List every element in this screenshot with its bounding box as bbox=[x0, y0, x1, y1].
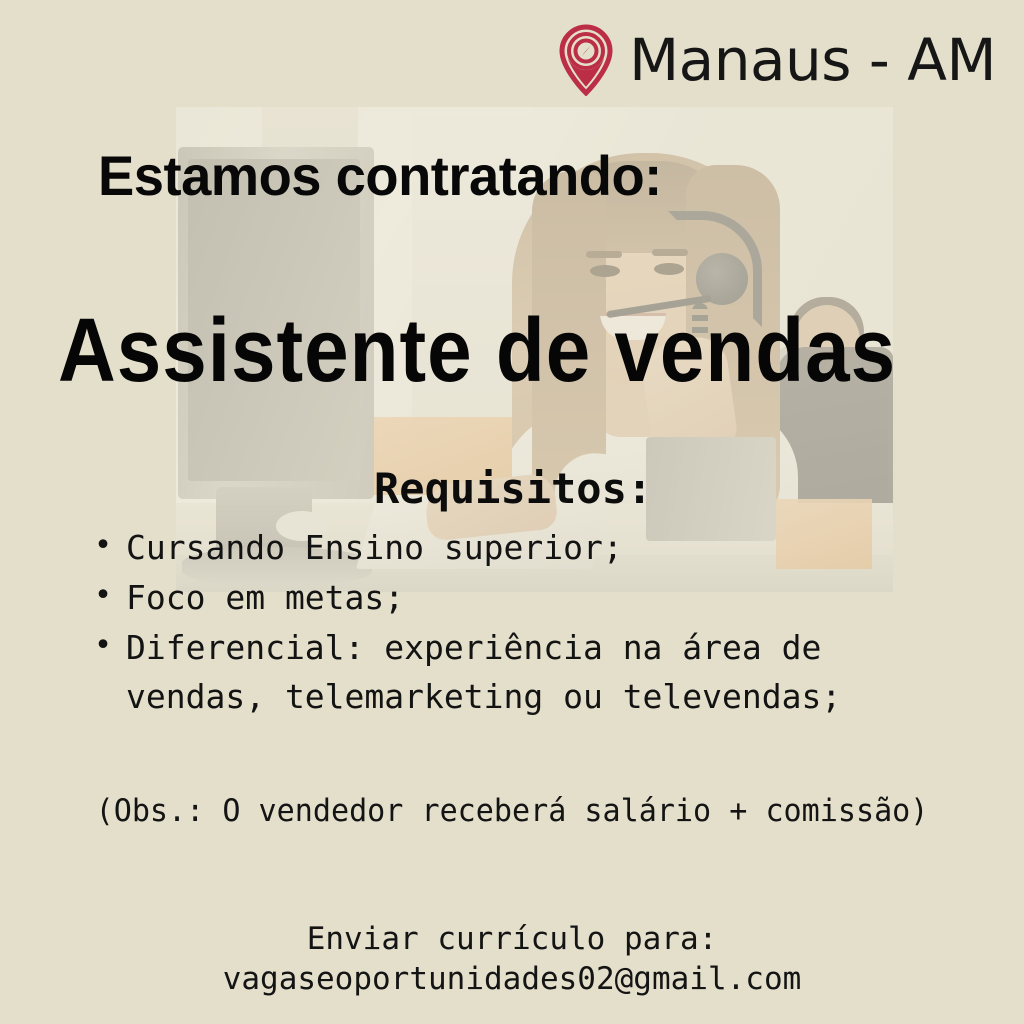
contact-email[interactable]: vagaseoportunidades02@gmail.com bbox=[0, 960, 1024, 1000]
location-label: Manaus - AM bbox=[629, 31, 996, 89]
contact-call-to-action: Enviar currículo para: bbox=[0, 920, 1024, 960]
job-ad-poster: Manaus - AM Estamos contratando: Assiste… bbox=[0, 0, 1024, 1024]
observation-note: (Obs.: O vendedor receberá salário + com… bbox=[15, 796, 1008, 827]
photo-woman-brow-left bbox=[586, 251, 622, 258]
contact-footer: Enviar currículo para: vagaseoportunidad… bbox=[0, 920, 1024, 999]
location-pin-compass-icon bbox=[557, 24, 615, 96]
list-item: Foco em metas; bbox=[92, 574, 972, 622]
page-title: Assistente de vendas bbox=[58, 306, 896, 396]
headline-estamos-contratando: Estamos contratando: bbox=[98, 148, 662, 204]
requirements-list: Cursando Ensino superior; Foco em metas;… bbox=[92, 524, 972, 723]
list-item: Cursando Ensino superior; bbox=[92, 524, 972, 572]
location-badge: Manaus - AM bbox=[557, 24, 996, 96]
list-item: Diferencial: experiência na área de vend… bbox=[92, 624, 972, 720]
photo-woman-eye-left bbox=[590, 265, 620, 277]
requirements-heading: Requisitos: bbox=[374, 468, 652, 510]
